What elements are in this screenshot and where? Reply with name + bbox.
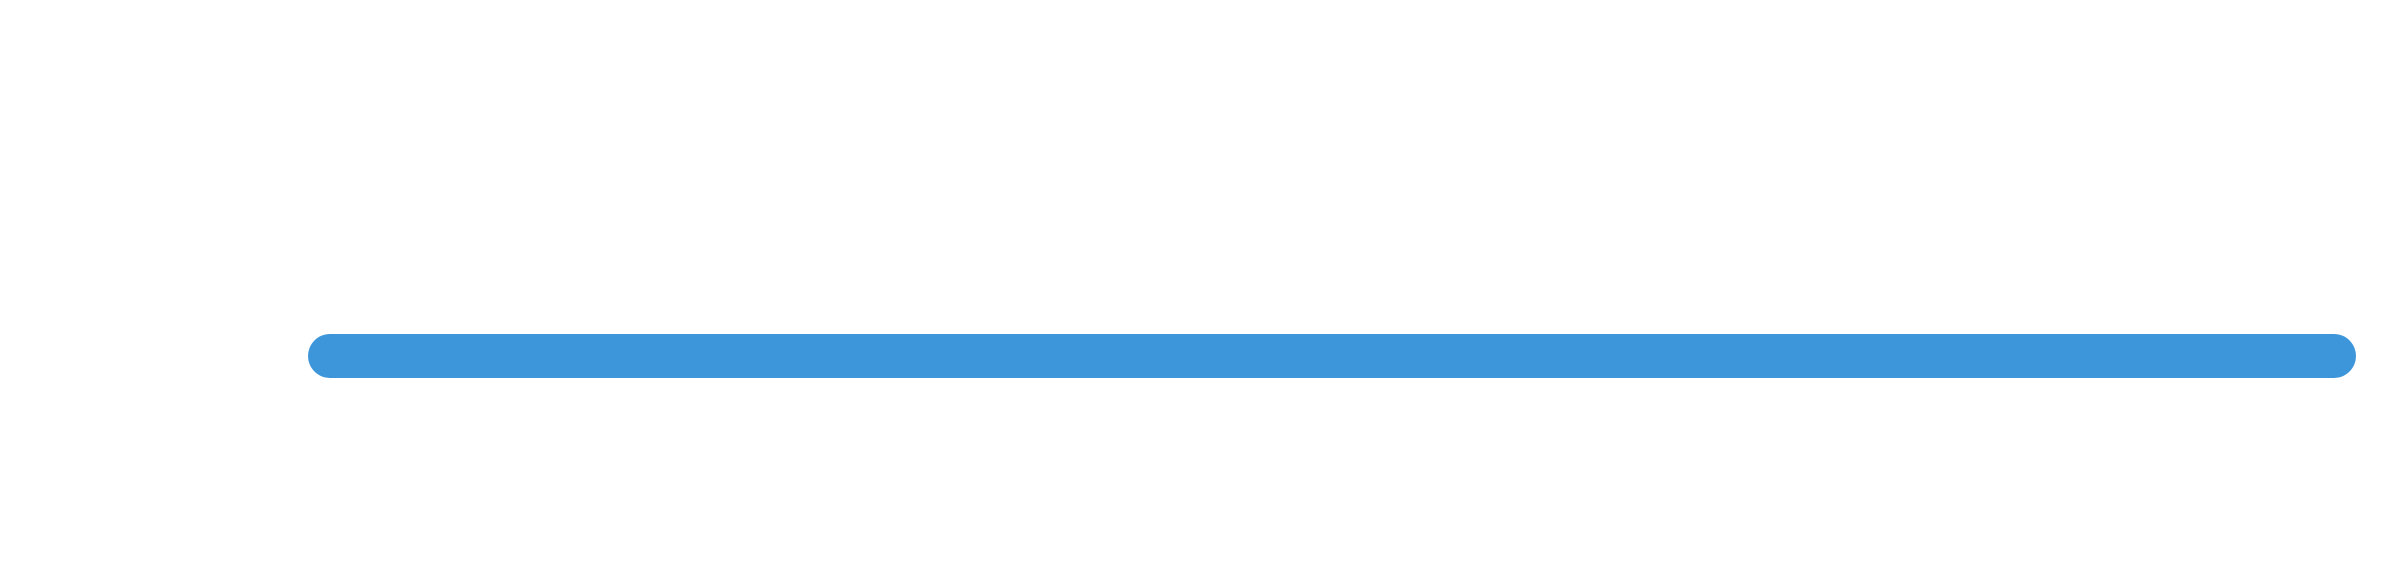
phylostratum-timeline-bar (308, 334, 2356, 378)
phylostratigraphy-figure (0, 0, 2400, 580)
